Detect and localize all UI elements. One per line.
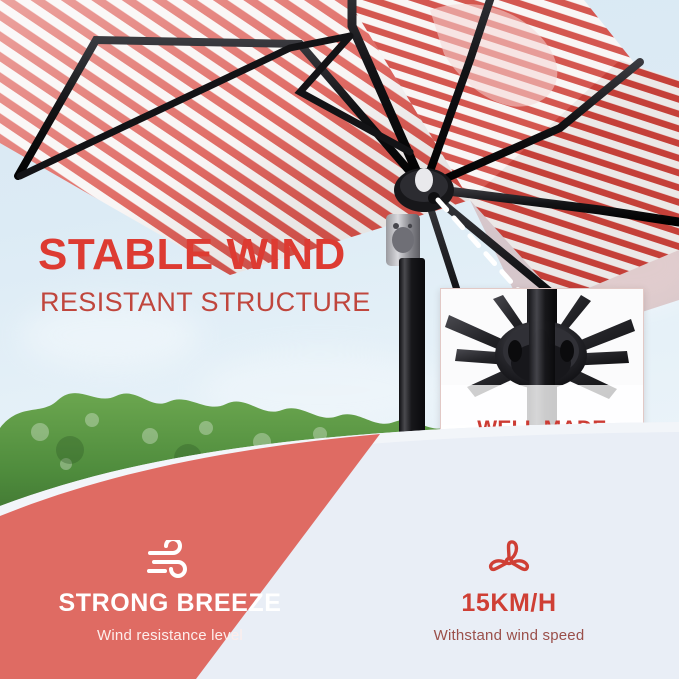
umbrella-hub-diagram — [441, 289, 643, 425]
feature-strong-breeze: STRONG BREEZE Wind resistance level — [0, 538, 340, 644]
product-feature-banner: STABLE WIND RESISTANT STRUCTURE — [0, 0, 679, 679]
page-title: STABLE WIND — [38, 232, 458, 278]
fan-icon — [339, 538, 679, 584]
feature-title: STRONG BREEZE — [0, 590, 340, 618]
page-subtitle: RESISTANT STRUCTURE — [40, 288, 458, 318]
wind-icon — [0, 538, 340, 584]
headline-block: STABLE WIND RESISTANT STRUCTURE — [38, 232, 458, 317]
feature-title: 15KM/H — [339, 590, 679, 618]
feature-wind-speed: 15KM/H Withstand wind speed — [339, 538, 679, 644]
feature-subtitle: Wind resistance level — [0, 627, 340, 644]
feature-subtitle: Withstand wind speed — [339, 627, 679, 644]
hub-closeup-photo — [441, 289, 643, 425]
feature-bar: STRONG BREEZE Wind resistance level 15KM… — [0, 420, 679, 679]
